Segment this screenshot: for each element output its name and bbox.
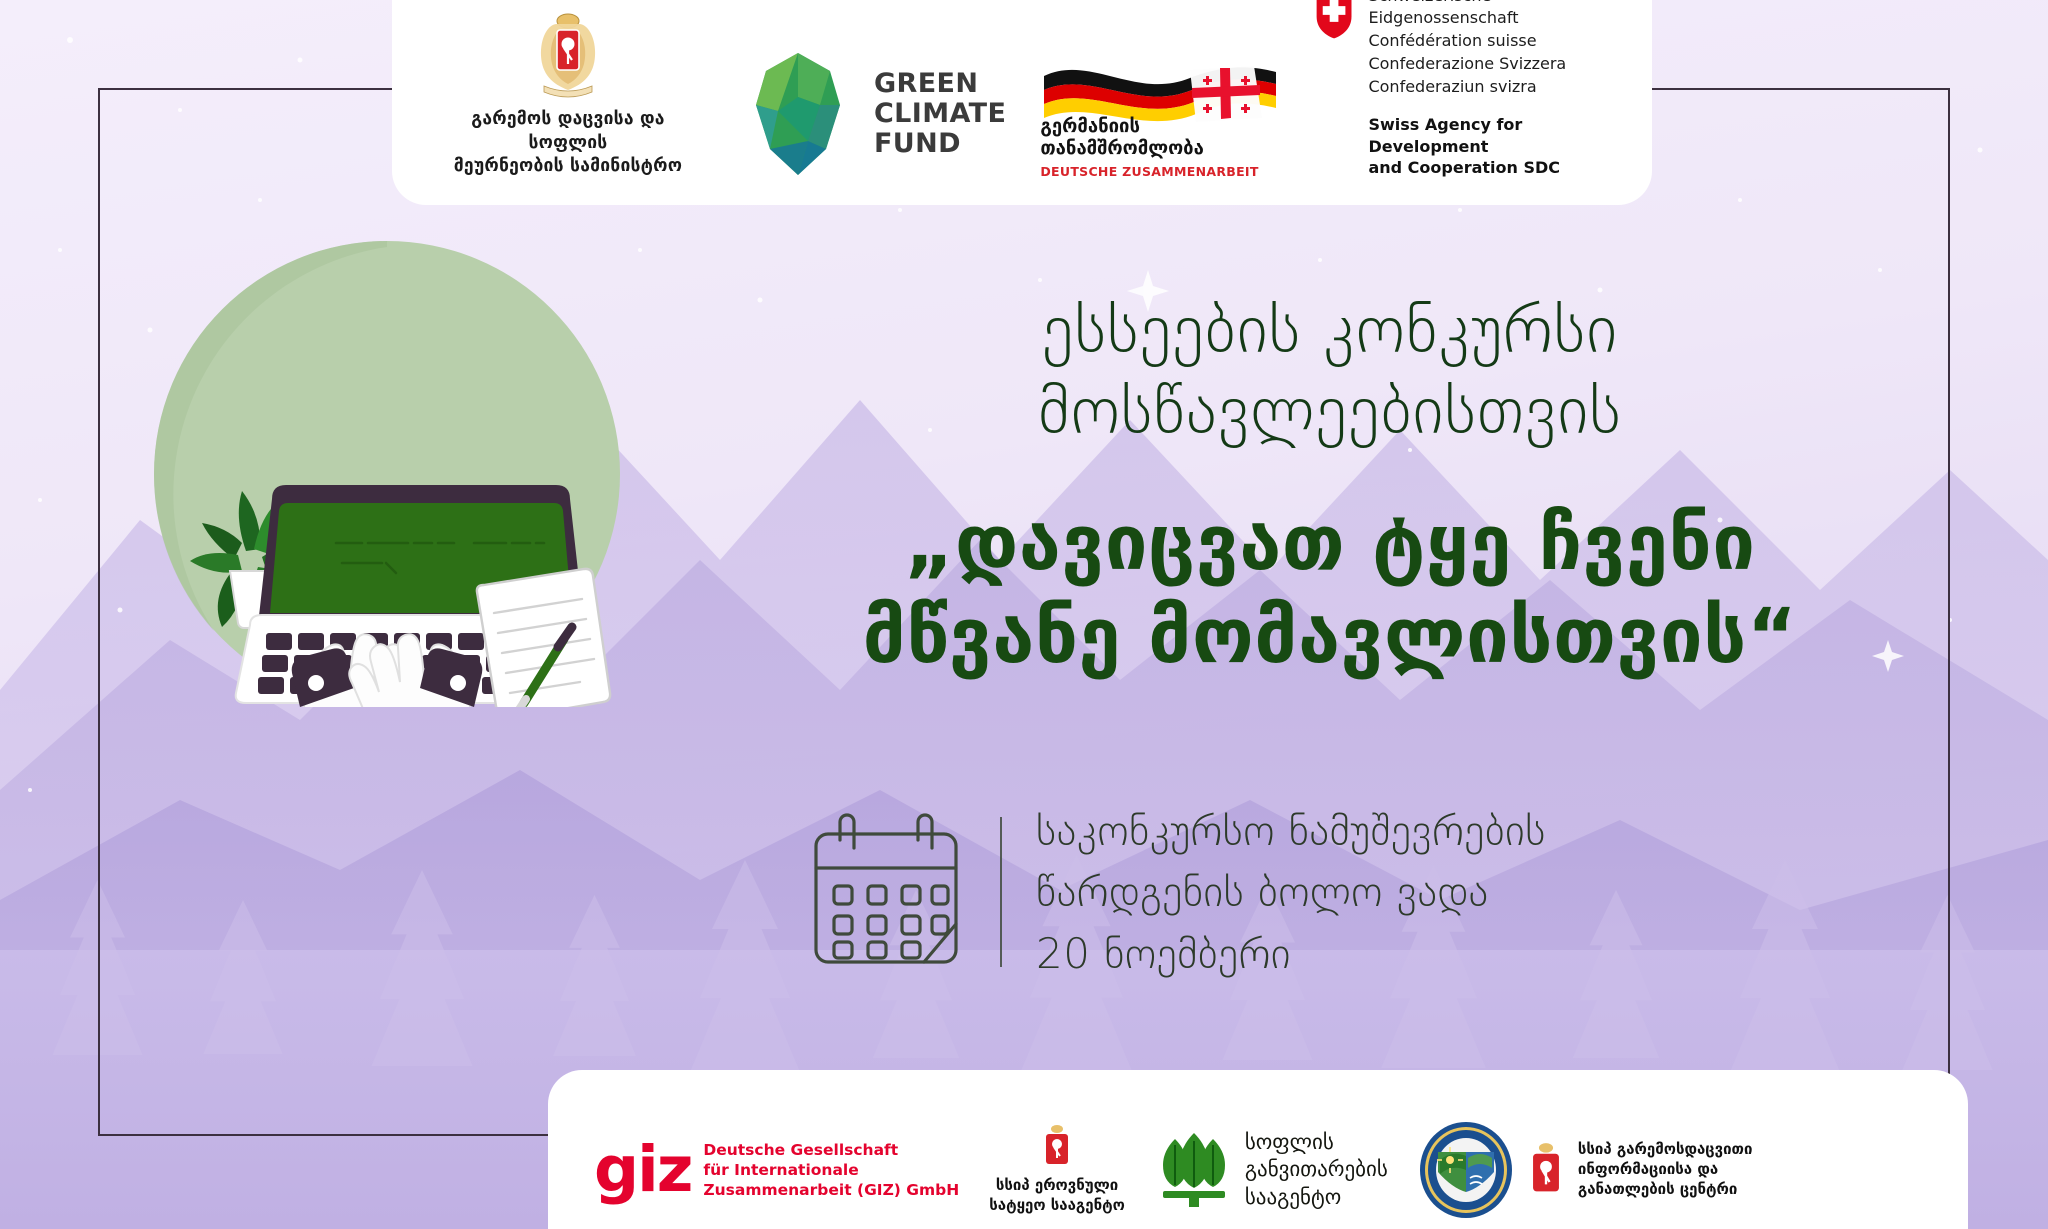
georgia-small-crest-icon <box>1526 1142 1566 1198</box>
poster-canvas: გარემოს დაცვისა და სოფლის მეურნეობის სამ… <box>0 0 2048 1229</box>
green-climate-fund-logo: GREEN CLIMATE FUND <box>738 49 1006 179</box>
giz-subtitle: Deutsche Gesellschaft für Internationale… <box>703 1140 959 1200</box>
georgia-coat-of-arms-icon <box>530 12 606 98</box>
gcf-line2: CLIMATE <box>874 99 1006 129</box>
swiss-line2: Confédération suisse <box>1368 30 1612 53</box>
deadline-text: საკონკურსო ნამუშევრების წარდგენის ბოლო ვ… <box>1036 800 1546 984</box>
nfa-line2: სატყეო სააგენტო <box>989 1196 1125 1216</box>
gcf-gem-icon <box>738 49 858 179</box>
vda-line2: განვითარების <box>1245 1156 1388 1183</box>
swiss-line4: Confederaziun svizra <box>1368 76 1612 99</box>
georgia-small-crest-icon <box>1040 1124 1074 1168</box>
deadline-divider <box>1000 817 1002 967</box>
swiss-shield-icon <box>1314 0 1354 43</box>
vda-caption: სოფლის განვითარების სააგენტო <box>1245 1129 1388 1211</box>
calendar-icon <box>806 812 966 972</box>
person-typing-on-laptop-illustration <box>154 241 620 707</box>
deadline-line2: წარდგენის ბოლო ვადა <box>1036 861 1546 922</box>
notepad-and-pencil-icon <box>477 569 610 707</box>
giz-sub-line3: Zusammenarbeit (GIZ) GmbH <box>703 1180 959 1200</box>
german-coop-ka-line1: გერმანიის <box>1040 116 1258 139</box>
vda-line1: სოფლის <box>1245 1129 1388 1156</box>
environmental-info-education-centre-logo: სსიპ გარემოსდაცვითი ინფორმაციისა და განა… <box>1418 1120 1753 1220</box>
kicker-line2: მოსწავლეებისთვის <box>780 371 1880 452</box>
gcf-line1: GREEN <box>874 69 1006 99</box>
giz-sub-line2: für Internationale <box>703 1160 959 1180</box>
deadline-block: საკონკურსო ნამუშევრების წარდგენის ბოლო ვ… <box>806 800 1546 984</box>
eiec-caption: სსიპ გარემოსდაცვითი ინფორმაციისა და განა… <box>1578 1140 1753 1199</box>
giz-logo: giz Deutsche Gesellschaft für Internatio… <box>594 1140 959 1200</box>
gcf-line3: FUND <box>874 129 1006 159</box>
swiss-line1: Schweizerische Eidgenossenschaft <box>1368 0 1612 30</box>
kicker-line1: ესსეების კონკურსი <box>780 290 1880 371</box>
top-partner-logo-bar: გარემოს დაცვისა და სოფლის მეურნეობის სამ… <box>392 0 1652 205</box>
swiss-line3: Confederazione Svizzera <box>1368 53 1612 76</box>
village-development-agency-logo: სოფლის განვითარების სააგენტო <box>1155 1129 1388 1211</box>
three-trees-icon <box>1155 1133 1233 1207</box>
headline-line1: „დავიცვათ ტყე ჩვენი <box>780 497 1880 590</box>
deadline-line1: საკონკურსო ნამუშევრების <box>1036 800 1546 861</box>
deadline-line3: 20 ნოემბერი <box>1036 923 1546 984</box>
vda-line3: სააგენტო <box>1245 1184 1388 1211</box>
ministry-caption-line2: მეურნეობის სამინისტრო <box>432 155 704 179</box>
ministry-caption-line1: გარემოს დაცვისა და სოფლის <box>432 108 704 155</box>
bottom-partner-logo-bar: giz Deutsche Gesellschaft für Internatio… <box>548 1070 1968 1229</box>
german-coop-ka-line2: თანამშრომლობა <box>1040 138 1258 161</box>
ministry-of-environment-logo: გარემოს დაცვისა და სოფლის მეურნეობის სამ… <box>432 12 704 179</box>
eiec-seal-icon <box>1418 1120 1514 1220</box>
eiec-line2: ინფორმაციისა და <box>1578 1160 1753 1180</box>
nfa-caption: სსიპ ეროვნული სატყეო სააგენტო <box>989 1176 1125 1216</box>
ministry-caption: გარემოს დაცვისა და სოფლის მეურნეობის სამ… <box>432 108 704 179</box>
swiss-bold-line2: and Cooperation SDC <box>1368 157 1612 179</box>
giz-wordmark: giz <box>594 1144 691 1196</box>
eiec-line3: განათლების ცენტრი <box>1578 1180 1753 1200</box>
nfa-line1: სსიპ ეროვნული <box>989 1176 1125 1196</box>
swiss-confederation-logo: Schweizerische Eidgenossenschaft Confédé… <box>1314 0 1612 179</box>
headline-line2: მწვანე მომავლისთვის“ <box>780 590 1880 683</box>
german-coop-de-line: DEUTSCHE ZUSAMMENARBEIT <box>1040 164 1258 179</box>
giz-sub-line1: Deutsche Gesellschaft <box>703 1140 959 1160</box>
swiss-bold-line1: Swiss Agency for Development <box>1368 114 1612 157</box>
german-cooperation-logo: გერმანიის თანამშრომლობა DEUTSCHE ZUSAMME… <box>1040 56 1280 179</box>
main-copy-block: ესსეების კონკურსი მოსწავლეებისთვის „დავი… <box>780 290 1880 682</box>
national-forestry-agency-logo: სსიპ ეროვნული სატყეო სააგენტო <box>989 1124 1125 1216</box>
gcf-wordmark: GREEN CLIMATE FUND <box>874 69 1006 160</box>
eiec-line1: სსიპ გარემოსდაცვითი <box>1578 1140 1753 1160</box>
